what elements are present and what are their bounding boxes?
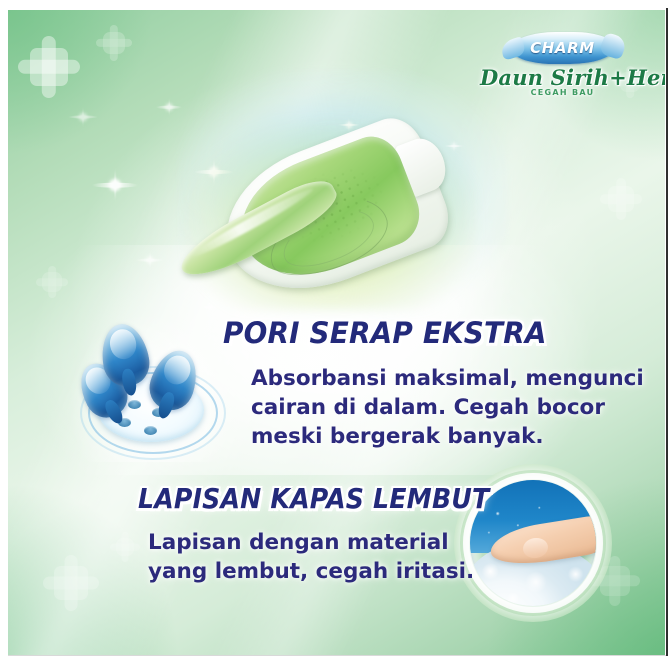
feature-headline-lapisan-kapas-lembut: LAPISAN KAPAS LEMBUT xyxy=(138,482,489,515)
feature-headline-pori-serap-ekstra: PORI SERAP EKSTRA xyxy=(223,316,547,350)
sparkle-icon xyxy=(68,102,98,132)
product-feature-poster: CHARM Daun Sirih+Herbal CEGAH BAU xyxy=(0,0,671,671)
sanitary-pad-illustration xyxy=(213,138,448,288)
absorbent-pores-icon xyxy=(78,322,218,454)
variant-name-part1: Daun Sirih xyxy=(480,65,609,90)
poster-canvas: CHARM Daun Sirih+Herbal CEGAH BAU xyxy=(8,10,665,655)
pore-hole xyxy=(144,426,157,435)
charm-badge: CHARM xyxy=(511,32,615,64)
frame-right-rule xyxy=(666,8,668,656)
plus-decoration-icon xyxy=(103,32,125,54)
sparkle-icon xyxy=(136,246,164,274)
pore-hole xyxy=(128,400,141,409)
charm-wordmark: CHARM xyxy=(511,32,615,64)
plus-decoration-icon xyxy=(54,566,88,600)
feature-body-lapisan-kapas-lembut: Lapisan dengan material yang lembut, ceg… xyxy=(148,528,474,586)
sparkle-icon xyxy=(156,94,182,120)
plus-decoration-icon xyxy=(42,272,62,292)
frame-bottom-rule xyxy=(8,655,666,656)
plus-decoration-icon xyxy=(116,538,134,556)
plus-decoration-icon xyxy=(608,186,634,212)
brand-logo: CHARM Daun Sirih+Herbal CEGAH BAU xyxy=(480,32,645,120)
plus-separator-icon: + xyxy=(609,65,627,90)
feature-body-pori-serap-ekstra: Absorbansi maksimal, mengunci cairan di … xyxy=(251,364,644,451)
sparkle-icon xyxy=(92,162,138,208)
plus-decoration-icon xyxy=(30,48,68,86)
variant-name-part2: Herbal xyxy=(627,65,665,90)
